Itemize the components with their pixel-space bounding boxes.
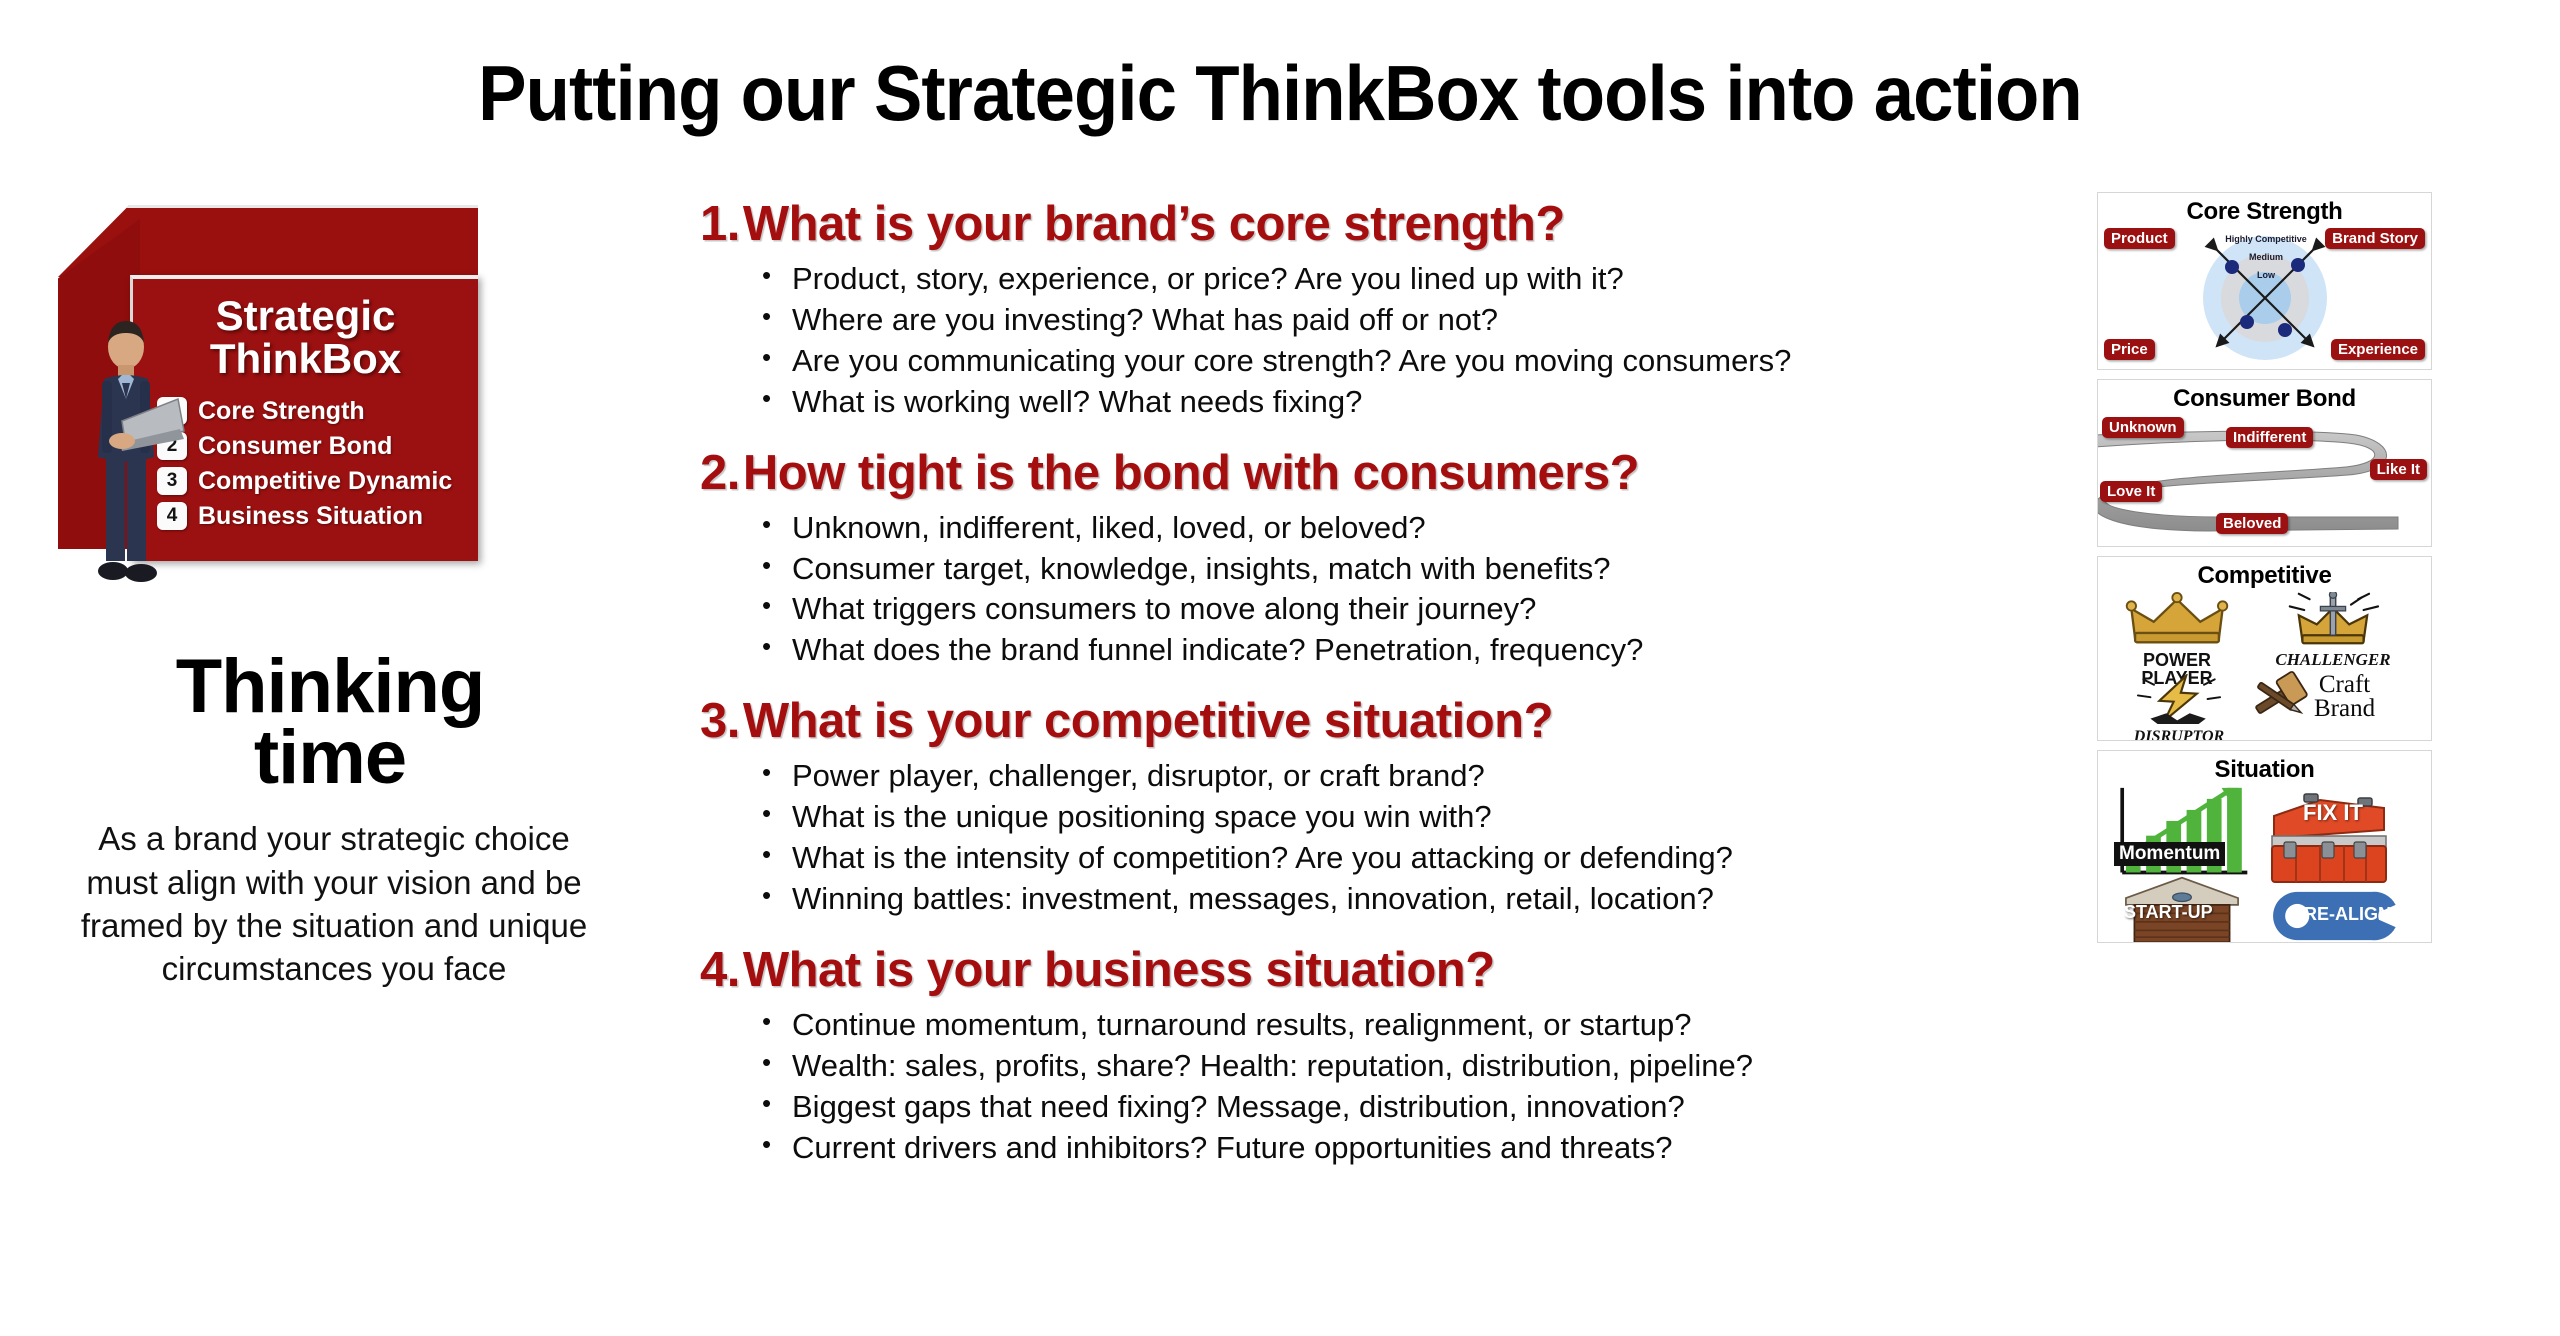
question-2-text: How tight is the bond with consumers? <box>743 445 1639 501</box>
pill-experience[interactable]: Experience <box>2331 339 2425 360</box>
thinkbox-item-1: 1 Core Strength <box>157 397 478 426</box>
slide-canvas: Putting our Strategic ThinkBox tools int… <box>0 0 2560 1336</box>
bullet-item: Where are you investing? What has paid o… <box>762 300 2080 341</box>
bullet-item: Power player, challenger, disruptor, or … <box>762 756 2080 797</box>
bullet-item: Current drivers and inhibitors? Future o… <box>762 1128 2080 1169</box>
questions-list: 1. What is your brand’s core strength? P… <box>700 196 2080 1191</box>
card-consumer-bond-title: Consumer Bond <box>2098 380 2431 413</box>
situation-momentum-label: Momentum <box>2114 842 2225 866</box>
bullet-item: Winning battles: investment, messages, i… <box>762 879 2080 920</box>
page-title: Putting our Strategic ThinkBox tools int… <box>90 48 2471 139</box>
question-2-heading: 2. How tight is the bond with consumers? <box>700 445 2080 501</box>
thinking-time-line2: time <box>40 723 620 794</box>
card-core-strength-title: Core Strength <box>2098 193 2431 226</box>
question-section-2: 2. How tight is the bond with consumers?… <box>700 445 2080 672</box>
competitive-disruptor: DISRUPTOR <box>2120 674 2238 741</box>
bullet-item: What does the brand funnel indicate? Pen… <box>762 630 2080 671</box>
thinkbox-item-1-label: Core Strength <box>198 397 365 426</box>
competitive-challenger: CHALLENGER <box>2258 592 2408 668</box>
card-competitive-body: POWER PLAYER <box>2098 590 2431 740</box>
bullet-item: Product, story, experience, or price? Ar… <box>762 259 2080 300</box>
card-competitive[interactable]: Competitive POWER PLAYER <box>2097 556 2432 741</box>
thinking-time-heading: Thinking time <box>40 652 620 793</box>
situation-re-align-label: RE-ALIGN <box>2304 904 2391 925</box>
question-3-heading: 3. What is your competitive situation? <box>700 693 2080 749</box>
card-situation-title: Situation <box>2098 751 2431 784</box>
ring-label-middle: Medium <box>2230 252 2302 262</box>
situation-start-up-label: START-UP <box>2124 902 2213 923</box>
situation-fix-it-label: FIX IT <box>2303 800 2363 826</box>
thinkbox-item-3: 3 Competitive Dynamic <box>157 467 478 496</box>
question-4-number: 4. <box>700 942 740 998</box>
bullet-item: Consumer target, knowledge, insights, ma… <box>762 549 2080 590</box>
thinkbox-item-3-label: Competitive Dynamic <box>198 467 452 496</box>
question-3-number: 3. <box>700 693 740 749</box>
card-core-strength-body: Highly Competitive Medium Low Product Br… <box>2098 226 2431 366</box>
lightning-bolt-icon <box>2133 674 2225 724</box>
question-1-heading: 1. What is your brand’s core strength? <box>700 196 2080 252</box>
craft-brand-label-1: Craft <box>2314 673 2375 697</box>
tool-cards-column: Core Strength <box>2097 192 2432 952</box>
pill-beloved[interactable]: Beloved <box>2216 513 2288 534</box>
pill-unknown[interactable]: Unknown <box>2102 417 2184 438</box>
pill-like-it[interactable]: Like It <box>2370 459 2427 480</box>
thinking-time-body: As a brand your strategic choice must al… <box>64 817 604 990</box>
competitive-power-player: POWER PLAYER <box>2114 592 2240 687</box>
mallet-chisel-icon <box>2246 670 2310 724</box>
pill-love-it[interactable]: Love It <box>2100 481 2162 502</box>
sword-crown-icon <box>2279 592 2387 646</box>
question-4-text: What is your business situation? <box>743 942 1495 998</box>
question-section-3: 3. What is your competitive situation? P… <box>700 693 2080 920</box>
card-consumer-bond-body: Unknown Indifferent Like It Love It Belo… <box>2098 413 2431 543</box>
competitive-challenger-label: CHALLENGER <box>2258 651 2408 668</box>
bullet-item: What is working well? What needs fixing? <box>762 382 2080 423</box>
bullet-item: Unknown, indifferent, liked, loved, or b… <box>762 508 2080 549</box>
bullet-item: What is the unique positioning space you… <box>762 797 2080 838</box>
competitive-power-player-label-1: POWER <box>2114 651 2240 669</box>
bullet-item: What triggers consumers to move along th… <box>762 589 2080 630</box>
competitive-craft-brand-labels: Craft Brand <box>2314 673 2375 722</box>
question-3-bullets: Power player, challenger, disruptor, or … <box>700 756 2080 920</box>
card-situation-body: Momentum FIX IT <box>2098 784 2431 942</box>
competitive-craft-brand: Craft Brand <box>2246 670 2426 724</box>
pill-indifferent[interactable]: Indifferent <box>2226 427 2313 448</box>
card-competitive-title: Competitive <box>2098 557 2431 590</box>
question-3-text: What is your competitive situation? <box>743 693 1553 749</box>
pill-product[interactable]: Product <box>2104 228 2175 249</box>
thinkbox-item-2: 2 Consumer Bond <box>157 432 478 461</box>
question-4-bullets: Continue momentum, turnaround results, r… <box>700 1005 2080 1169</box>
left-column: Strategic ThinkBox 1 Core Strength 2 Con… <box>40 205 640 990</box>
thinkbox-item-4-label: Business Situation <box>198 502 423 531</box>
card-core-strength[interactable]: Core Strength <box>2097 192 2432 370</box>
question-1-bullets: Product, story, experience, or price? Ar… <box>700 259 2080 423</box>
card-consumer-bond[interactable]: Consumer Bond Unknown Indifferent Like I… <box>2097 379 2432 547</box>
bullet-item: Biggest gaps that need fixing? Message, … <box>762 1087 2080 1128</box>
bullet-item: Wealth: sales, profits, share? Health: r… <box>762 1046 2080 1087</box>
craft-brand-label-2: Brand <box>2314 697 2375 721</box>
question-section-4: 4. What is your business situation? Cont… <box>700 942 2080 1169</box>
question-1-text: What is your brand’s core strength? <box>743 196 1565 252</box>
bullet-item: Are you communicating your core strength… <box>762 341 2080 382</box>
ring-label-inner: Low <box>2240 270 2292 280</box>
question-4-heading: 4. What is your business situation? <box>700 942 2080 998</box>
pill-brand-story[interactable]: Brand Story <box>2325 228 2425 249</box>
thinkbox-item-2-label: Consumer Bond <box>198 432 392 461</box>
pill-price[interactable]: Price <box>2104 339 2155 360</box>
question-1-number: 1. <box>700 196 740 252</box>
competitive-disruptor-label: DISRUPTOR <box>2120 729 2238 741</box>
question-2-bullets: Unknown, indifferent, liked, loved, or b… <box>700 508 2080 672</box>
bullet-item: What is the intensity of competition? Ar… <box>762 838 2080 879</box>
thinkbox-item-4: 4 Business Situation <box>157 502 478 531</box>
strategic-thinkbox-graphic: Strategic ThinkBox 1 Core Strength 2 Con… <box>58 205 598 630</box>
businesswoman-illustration <box>66 313 186 603</box>
card-situation[interactable]: Situation Momentum <box>2097 750 2432 943</box>
bullet-item: Continue momentum, turnaround results, r… <box>762 1005 2080 1046</box>
ring-label-outer: Highly Competitive <box>2218 234 2314 244</box>
crown-icon <box>2125 592 2229 646</box>
thinking-time-line1: Thinking <box>40 652 620 723</box>
question-section-1: 1. What is your brand’s core strength? P… <box>700 196 2080 423</box>
question-2-number: 2. <box>700 445 740 501</box>
